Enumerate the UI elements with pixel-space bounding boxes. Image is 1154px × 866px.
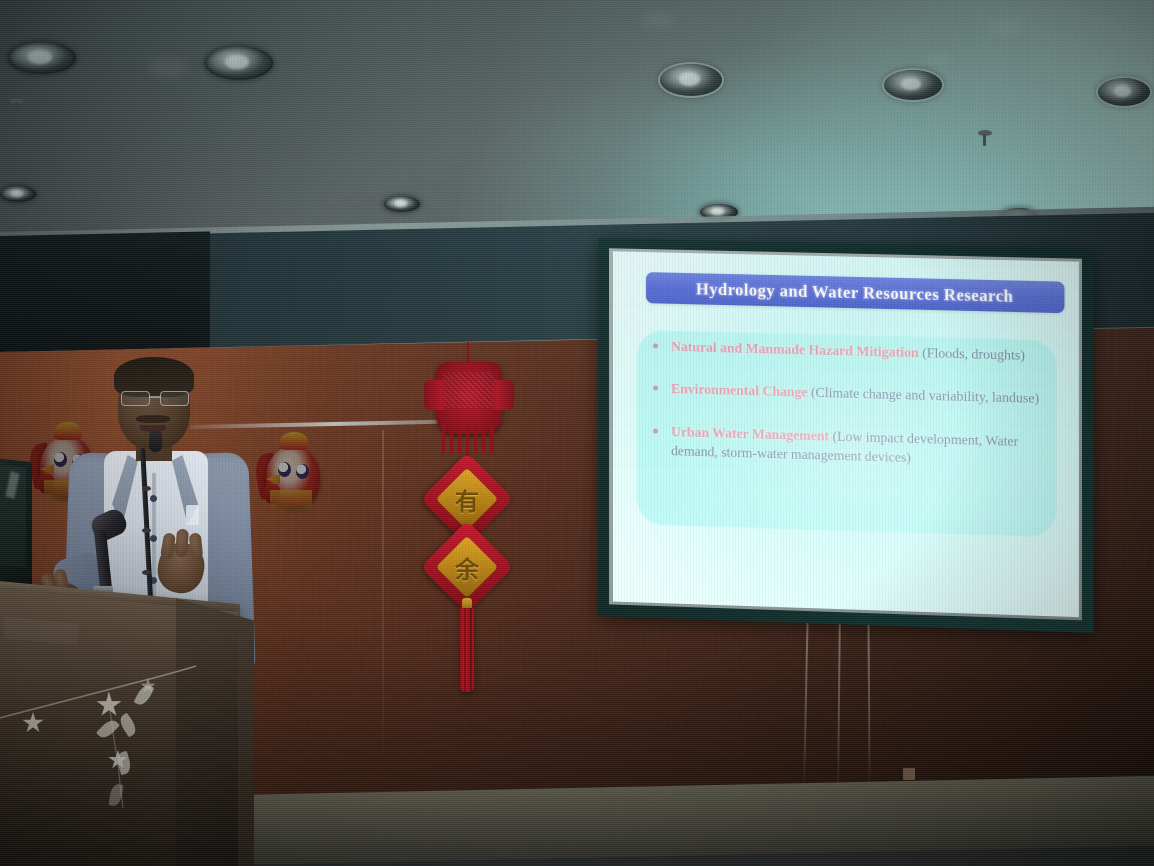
slide-bullet-item: Environmental Change (Climate change and… <box>641 378 1064 409</box>
slide-bullet-list: Natural and Manmade Hazard Mitigation (F… <box>641 336 1064 495</box>
diamond-glyph-bottom: 余 <box>445 545 489 589</box>
star-leaf-garland <box>0 660 350 810</box>
bullet-text: Urban Water Management (Low impact devel… <box>671 422 1064 472</box>
gooseneck-microphone[interactable] <box>138 430 166 595</box>
downlight-icon <box>205 46 273 80</box>
downlight-icon <box>384 196 420 212</box>
finger <box>175 529 189 558</box>
microphone-ring <box>142 486 151 491</box>
bullet-text: Environmental Change (Climate change and… <box>671 379 1064 409</box>
chinese-knot-hanging: 有 余 <box>420 358 516 648</box>
bullet-dot-icon <box>653 428 658 433</box>
garland-string <box>0 660 350 810</box>
bullet-lead-text: Environmental Change <box>671 381 811 400</box>
microphone-ring <box>142 528 151 533</box>
microphone-neck <box>140 448 153 598</box>
diamond-gold-inner: 余 <box>436 536 498 598</box>
presentation-photo: Hydrology and Water Resources Research N… <box>0 0 1154 866</box>
rooster-eye <box>296 464 309 479</box>
slide-title: Hydrology and Water Resources Research <box>696 279 1013 307</box>
ceiling <box>0 0 1154 244</box>
glasses-icon <box>120 391 190 404</box>
bullet-rest-text: (Floods, droughts) <box>922 345 1025 363</box>
glasses-lens-left <box>121 391 150 406</box>
diamond-glyph-top: 有 <box>445 477 489 521</box>
bullet-dot-icon <box>653 343 658 348</box>
panel-seam <box>382 430 384 760</box>
sprinkler-icon <box>978 130 992 146</box>
projected-slide: Hydrology and Water Resources Research N… <box>613 251 1079 617</box>
diamond-gold-inner: 有 <box>436 468 498 530</box>
glasses-lens-right <box>160 391 189 406</box>
projection-screen: Hydrology and Water Resources Research N… <box>598 238 1093 633</box>
slide-bullet-item: Urban Water Management (Low impact devel… <box>641 421 1064 472</box>
microphone-ring <box>142 570 151 575</box>
hanging-cord <box>467 342 469 362</box>
wall-band-left-dark <box>0 231 210 366</box>
wall-outlet <box>903 768 915 780</box>
downlight-icon <box>0 186 36 202</box>
downlight-icon <box>1098 78 1150 106</box>
microphone-capsule <box>149 430 162 452</box>
bullet-dot-icon <box>653 386 658 391</box>
knot-side-ears <box>424 380 514 410</box>
sprinkler-icon <box>10 98 24 114</box>
slide-title-banner: Hydrology and Water Resources Research <box>646 272 1064 313</box>
name-badge <box>186 505 199 525</box>
downlight-icon <box>660 64 722 96</box>
hanging-tassel <box>460 608 474 692</box>
bullet-lead-text: Natural and Manmade Hazard Mitigation <box>671 339 922 360</box>
downlight-icon <box>884 70 942 100</box>
rooster-comb <box>280 432 308 450</box>
downlight-icon <box>8 42 76 74</box>
bullet-rest-text: (Climate change and variability, landuse… <box>811 385 1039 406</box>
bullet-lead-text: Urban Water Management <box>671 424 832 444</box>
moustache <box>136 415 170 423</box>
